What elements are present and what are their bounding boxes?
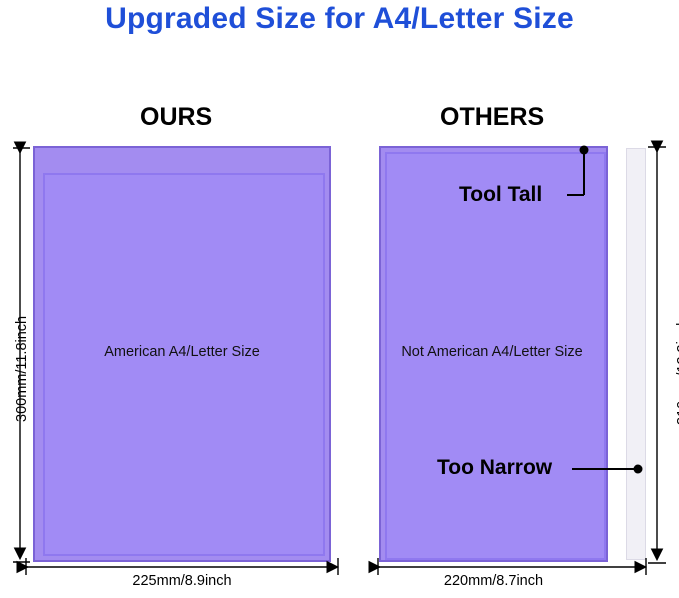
arrow-width-ours (26, 558, 338, 575)
arrow-height-ours (13, 148, 30, 562)
leader-line-too-tall (567, 146, 589, 196)
leader-line-too-narrow (572, 465, 643, 474)
dimension-arrows-overlay (0, 0, 679, 598)
arrow-height-others (648, 147, 666, 563)
arrow-width-others (378, 558, 646, 575)
infographic-root: Upgraded Size for A4/Letter Size OURS Am… (0, 0, 679, 598)
